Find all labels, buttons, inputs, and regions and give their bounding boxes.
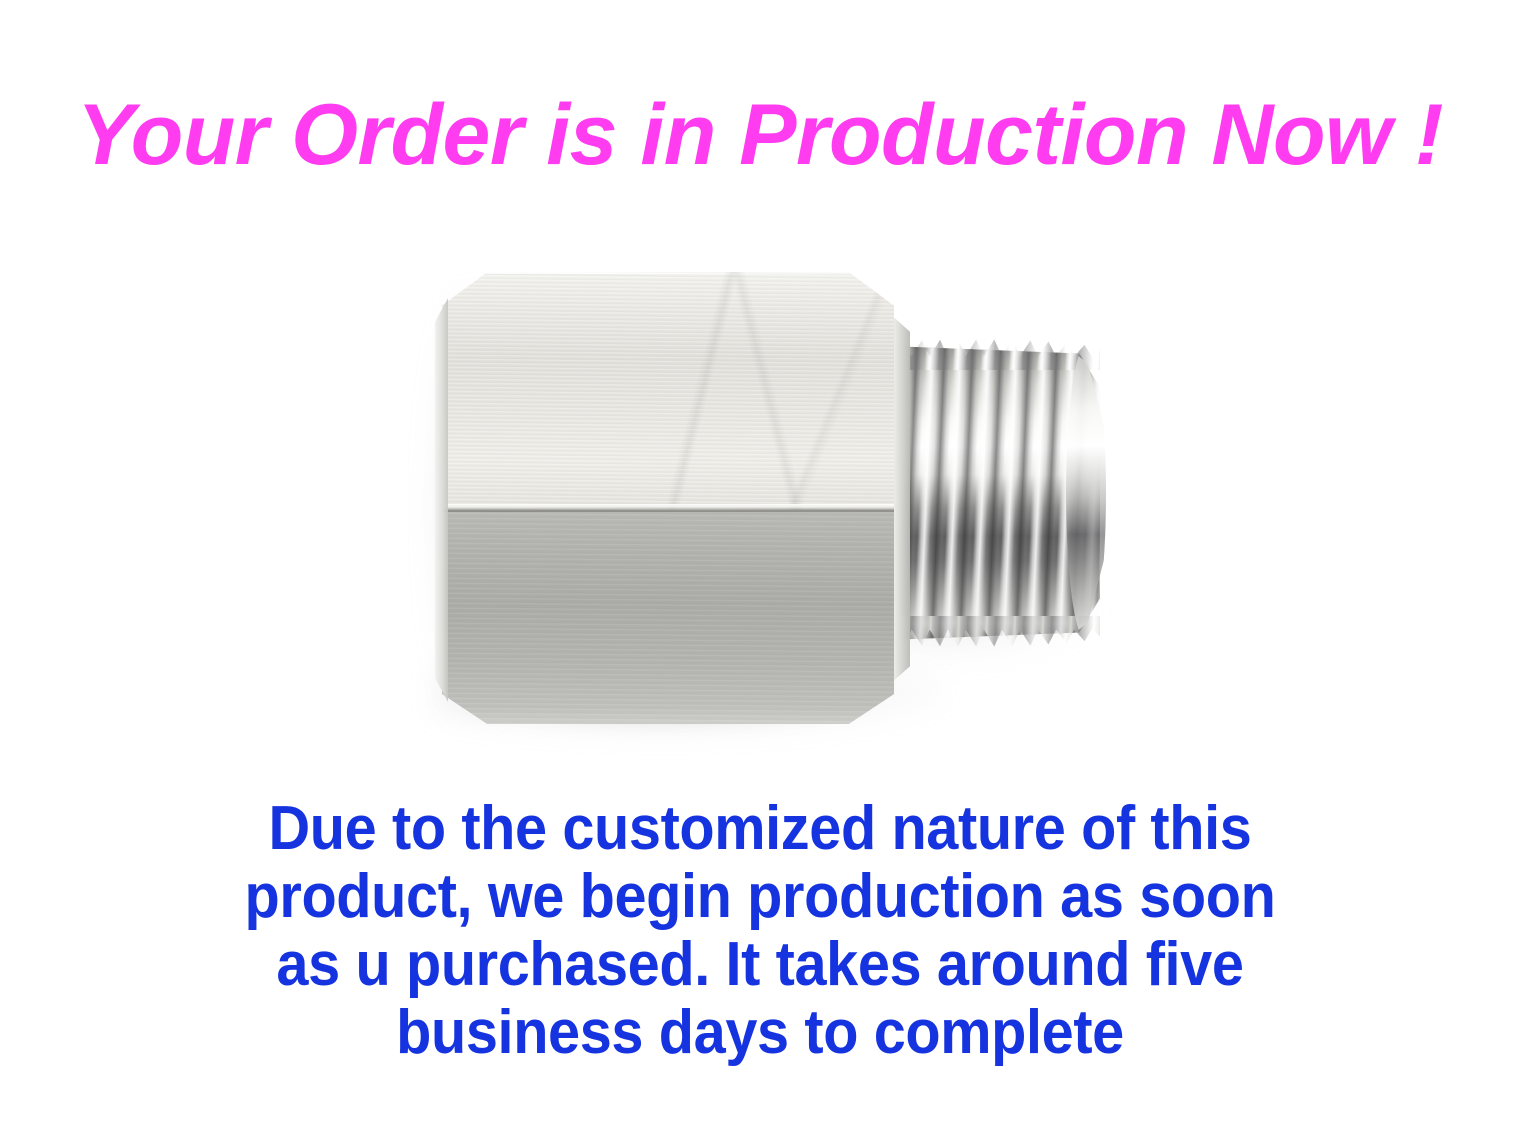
notice-line-4: business days to complete xyxy=(53,999,1467,1067)
notice-line-3: as u purchased. It takes around five xyxy=(53,931,1467,999)
hex-facet-edge xyxy=(442,504,894,512)
hex-nut-body xyxy=(442,272,894,724)
production-notice: Due to the customized nature of this pro… xyxy=(0,795,1520,1067)
page-title: Your Order is in Production Now ! xyxy=(0,92,1520,178)
promo-image-canvas: Your Order is in Production Now ! Due xyxy=(0,0,1520,1140)
product-image xyxy=(380,230,1180,790)
hex-facet-upper xyxy=(442,272,894,512)
notice-line-1: Due to the customized nature of this xyxy=(53,795,1467,863)
hex-facet-lower xyxy=(442,510,894,724)
hex-facet-scuffs xyxy=(442,272,894,512)
notice-line-2: product, we begin production as soon xyxy=(53,863,1467,931)
